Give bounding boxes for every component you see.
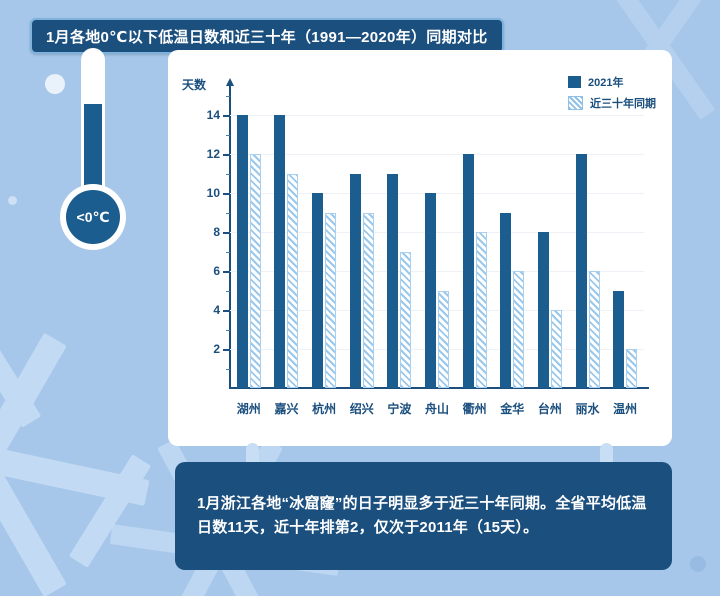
x-axis-tick-label: 金华 <box>500 400 524 417</box>
x-axis-tick-label: 温州 <box>613 400 637 417</box>
bar-group <box>500 213 524 388</box>
bar-group <box>576 154 600 388</box>
y-axis-tick <box>223 349 230 351</box>
bar-group <box>463 154 487 388</box>
y-axis-tick <box>223 154 230 156</box>
bar-2021 <box>425 193 436 388</box>
bar-normal <box>287 174 298 388</box>
chart-panel: 天数 2021年 近三十年同期 2468101214 湖州嘉兴杭州绍兴宁波舟山衢… <box>168 50 672 446</box>
caption-box: 1月浙江各地“冰窟窿”的日子明显多于近三十年同期。全省平均低温日数11天，近十年… <box>175 462 672 570</box>
x-axis-tick-label: 杭州 <box>312 400 336 417</box>
bar-normal <box>438 291 449 388</box>
bar-2021 <box>538 232 549 388</box>
bar-normal <box>363 213 374 388</box>
bar-normal <box>551 310 562 388</box>
y-axis-tick-label: 14 <box>207 108 220 122</box>
bar-2021 <box>500 213 511 388</box>
bar-group <box>237 115 261 388</box>
x-axis-tick-label: 衢州 <box>463 400 487 417</box>
bar-normal <box>250 154 261 388</box>
page-title-text: 1月各地0℃以下低温日数和近三十年（1991—2020年）同期对比 <box>46 26 488 47</box>
y-axis-tick-label: 12 <box>207 147 220 161</box>
bar-2021 <box>463 154 474 388</box>
bar-normal <box>476 232 487 388</box>
bar-2021 <box>387 174 398 388</box>
bubble-decoration <box>690 556 706 572</box>
bar-group <box>538 232 562 388</box>
legend-item-2021: 2021年 <box>568 74 656 90</box>
legend-label: 2021年 <box>588 74 623 90</box>
bar-group <box>613 291 637 388</box>
y-axis-minor-tick <box>226 330 230 331</box>
x-axis-tick-label: 台州 <box>538 400 562 417</box>
thermometer-bulb: <0℃ <box>66 190 120 244</box>
x-axis-tick-label: 绍兴 <box>350 400 374 417</box>
bar-normal <box>513 271 524 388</box>
y-axis-tick <box>223 310 230 312</box>
bar-group <box>387 174 411 388</box>
bar-group <box>312 193 336 388</box>
caption-text: 1月浙江各地“冰窟窿”的日子明显多于近三十年同期。全省平均低温日数11天，近十年… <box>197 492 650 539</box>
y-axis-tick <box>223 232 230 234</box>
plot-area: 2468101214 湖州嘉兴杭州绍兴宁波舟山衢州金华台州丽水温州 <box>230 96 644 388</box>
y-axis-tick-label: 2 <box>213 342 220 356</box>
y-axis-minor-tick <box>226 369 230 370</box>
y-axis-line <box>229 84 231 388</box>
bar-group <box>425 193 449 388</box>
thermometer-icon: <0℃ <box>60 48 126 258</box>
bar-2021 <box>613 291 624 388</box>
y-axis-minor-tick <box>226 96 230 97</box>
bar-normal <box>325 213 336 388</box>
y-axis-minor-tick <box>226 252 230 253</box>
x-axis-tick-label: 宁波 <box>387 400 411 417</box>
bar-normal <box>589 271 600 388</box>
bar-normal <box>400 252 411 388</box>
bar-2021 <box>237 115 248 388</box>
bar-2021 <box>576 154 587 388</box>
bar-normal <box>626 349 637 388</box>
legend-swatch-icon <box>568 76 581 88</box>
bar-2021 <box>312 193 323 388</box>
y-axis-tick <box>223 193 230 195</box>
thermometer-label: <0℃ <box>77 209 110 226</box>
y-axis-title: 天数 <box>182 76 206 93</box>
x-axis-tick-label: 湖州 <box>237 400 261 417</box>
x-axis-tick-label: 丽水 <box>576 400 600 417</box>
y-axis-tick <box>223 271 230 273</box>
bar-group <box>274 115 298 388</box>
y-axis-tick-label: 8 <box>213 225 220 239</box>
y-axis-tick-label: 10 <box>207 186 220 200</box>
bar-group <box>350 174 374 388</box>
y-axis-tick-label: 4 <box>213 303 220 317</box>
infographic-root: 1月各地0℃以下低温日数和近三十年（1991—2020年）同期对比 <0℃ 天数… <box>0 0 720 596</box>
x-axis-tick-label: 舟山 <box>425 400 449 417</box>
x-axis-tick-label: 嘉兴 <box>274 400 298 417</box>
bar-2021 <box>350 174 361 388</box>
bar-2021 <box>274 115 285 388</box>
bubble-decoration <box>8 196 17 205</box>
y-axis-minor-tick <box>226 213 230 214</box>
y-axis-arrow-icon <box>226 78 234 86</box>
y-axis-tick-label: 6 <box>213 264 220 278</box>
y-axis-minor-tick <box>226 174 230 175</box>
y-axis-minor-tick <box>226 291 230 292</box>
y-axis-minor-tick <box>226 135 230 136</box>
y-axis-tick <box>223 115 230 117</box>
